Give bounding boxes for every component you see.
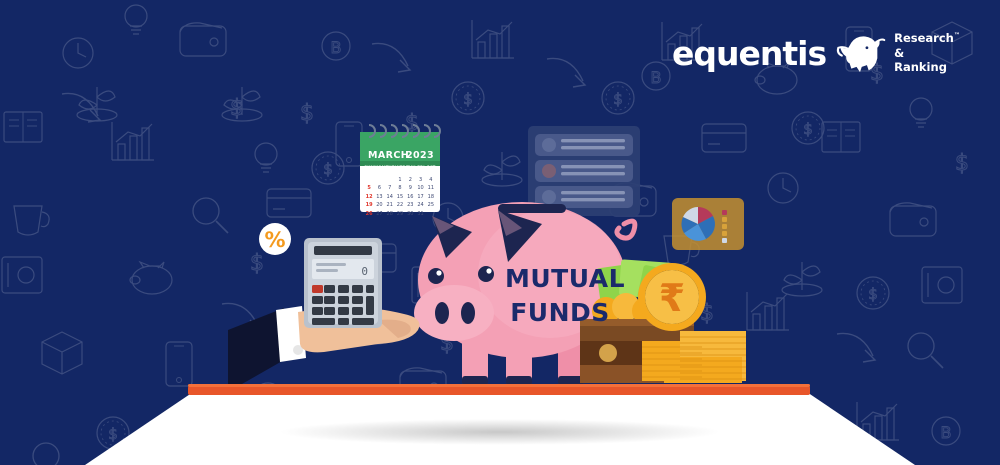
calendar-weekday: FRI bbox=[416, 165, 426, 170]
calendar-weekday-header: SUNMONTUEWEDTHUFRISAT bbox=[364, 165, 436, 170]
brand-tagline-line2: & bbox=[894, 46, 960, 60]
calendar-weekday: SAT bbox=[426, 165, 436, 170]
calendar-day-cell[interactable]: 26 bbox=[364, 211, 374, 217]
calendar-blank-cell: . bbox=[374, 177, 384, 183]
calendar-day-cell[interactable]: 2 bbox=[405, 177, 415, 183]
calendar-day-cell[interactable]: 13 bbox=[374, 194, 384, 200]
calendar-day-cell[interactable]: 21 bbox=[385, 202, 395, 208]
shelf bbox=[188, 386, 810, 395]
calendar-weekday: WED bbox=[395, 165, 406, 170]
calendar-day-cell[interactable]: 7 bbox=[385, 185, 395, 191]
brand-tagline-line1: Research™ bbox=[894, 31, 960, 45]
page-title: MUTUAL FUNDS bbox=[505, 262, 615, 330]
shelf-highlight bbox=[188, 384, 810, 387]
calendar-day-cell[interactable]: 22 bbox=[395, 202, 405, 208]
calendar-day-cell[interactable]: 19 bbox=[364, 202, 374, 208]
stage-spotlight bbox=[0, 384, 1000, 465]
calendar-weekday: THU bbox=[406, 165, 416, 170]
calendar-weekday: SUN bbox=[364, 165, 374, 170]
calendar-day-cell[interactable]: 28 bbox=[385, 211, 395, 217]
rupee-coin-icon: ₹ bbox=[638, 263, 706, 331]
calendar-day-cell[interactable]: 8 bbox=[395, 185, 405, 191]
calendar-day-cell[interactable]: 20 bbox=[374, 202, 384, 208]
headline-line-1: MUTUAL bbox=[505, 262, 615, 296]
calendar-day-cell[interactable]: 1 bbox=[395, 177, 405, 183]
bull-icon bbox=[834, 27, 886, 79]
calendar-weekday: TUE bbox=[385, 165, 395, 170]
calculator-icon: 0 bbox=[304, 238, 382, 328]
calendar-month: MARCH bbox=[368, 150, 409, 161]
pie-chart-icon bbox=[681, 207, 715, 241]
calendar-day-cell[interactable]: 27 bbox=[374, 211, 384, 217]
calendar-day-cell[interactable]: 5 bbox=[364, 185, 374, 191]
brand-logo: equentis Research™ & Ranking bbox=[672, 27, 960, 79]
brand-tagline: Research™ & Ranking bbox=[894, 31, 960, 74]
pie-chart-card bbox=[672, 198, 744, 250]
calendar-day-cell[interactable]: 12 bbox=[364, 194, 374, 200]
brand-wordmark: equentis bbox=[672, 37, 826, 70]
percent-badge: % bbox=[258, 222, 292, 256]
calendar-weekday: MON bbox=[374, 165, 385, 170]
suit-sleeve bbox=[228, 308, 284, 392]
brand-tagline-line3: Ranking bbox=[894, 60, 960, 74]
svg-text:₹: ₹ bbox=[659, 276, 685, 320]
calendar-blank-cell: . bbox=[385, 177, 395, 183]
calendar-blank-cell: . bbox=[364, 177, 374, 183]
trademark-icon: ™ bbox=[954, 33, 960, 40]
calendar-day-cell[interactable]: 29 bbox=[395, 211, 405, 217]
percent-icon: % bbox=[264, 228, 285, 252]
calendar-day-cell[interactable]: 6 bbox=[374, 185, 384, 191]
headline-line-2: FUNDS bbox=[505, 296, 615, 330]
calendar-day-cell[interactable]: 3 bbox=[415, 177, 425, 183]
calendar-day-cell[interactable]: 14 bbox=[385, 194, 395, 200]
svg-text:0: 0 bbox=[361, 265, 368, 278]
calendar-year: 2023 bbox=[406, 150, 434, 161]
pie-chart-legend bbox=[722, 210, 727, 243]
marketing-banner: $ $ B bbox=[0, 0, 1000, 465]
calendar-day-cell[interactable]: 15 bbox=[395, 194, 405, 200]
calendar-day-cell[interactable]: 4 bbox=[426, 177, 436, 183]
